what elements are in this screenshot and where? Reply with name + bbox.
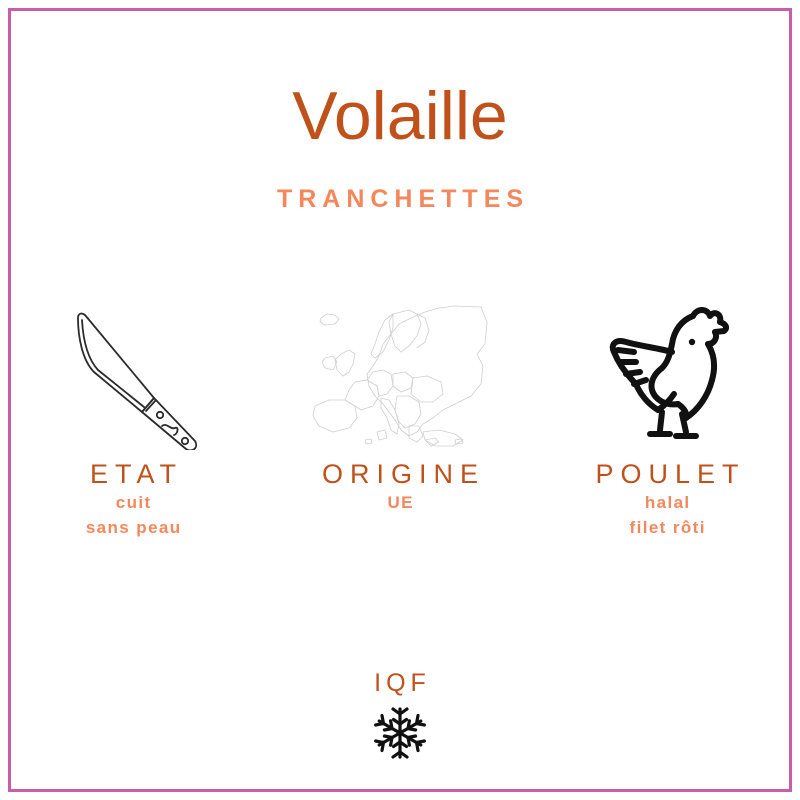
page-title: Volaille [0, 78, 800, 154]
footer-label-iqf: IQF [369, 668, 431, 698]
europe-map-icon [305, 300, 495, 450]
attribute-column-origine: ORIGINE UE [267, 300, 533, 515]
footer-block: IQF [0, 668, 800, 760]
attribute-column-poulet: POULET halal filet rôti [534, 300, 800, 540]
attribute-columns: ETAT cuit sans peau [0, 300, 800, 540]
attribute-column-etat: ETAT cuit sans peau [0, 300, 266, 540]
chicken-icon [600, 300, 735, 450]
attribute-sub-origine-1: UE [386, 490, 414, 515]
snowflake-icon [373, 706, 427, 760]
attribute-sub-poulet-2: filet rôti [628, 515, 706, 540]
knife-icon [68, 300, 198, 450]
page-subtitle: TRANCHETTES [0, 184, 800, 214]
attribute-sub-etat-1: cuit [114, 490, 151, 515]
product-spec-card: Volaille TRANCHETTES [0, 0, 800, 800]
attribute-label-poulet: POULET [588, 458, 745, 490]
attribute-label-origine: ORIGINE [315, 458, 485, 490]
attribute-sub-etat-2: sans peau [84, 515, 181, 540]
attribute-label-etat: ETAT [83, 458, 183, 490]
attribute-sub-poulet-1: halal [643, 490, 690, 515]
